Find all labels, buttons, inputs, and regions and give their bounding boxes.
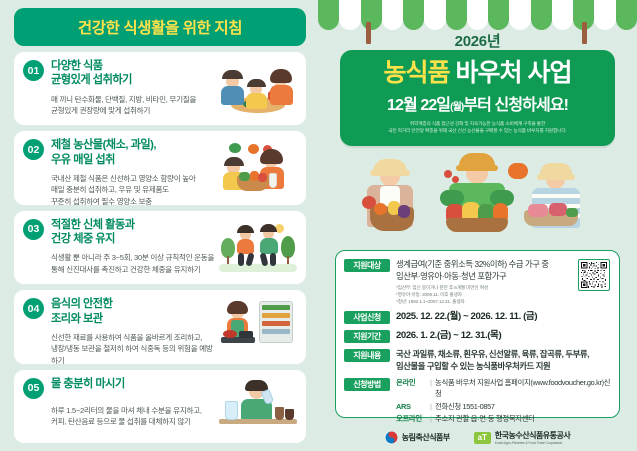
program-year: 2026년 xyxy=(318,30,637,51)
tip-title: 물 충분히 마시기 xyxy=(51,377,125,391)
ministry-logo: 농림축산식품부 xyxy=(385,431,450,444)
apply-channel-label: 오프라인 xyxy=(396,413,430,424)
info-label-apply-period: 사업신청 xyxy=(344,311,390,324)
info-value-support-content: 국산 과일류, 채소류, 흰우유, 신선알류, 육류, 잡곡류, 두부류, 임산… xyxy=(396,348,611,372)
program-title-board: 농식품 바우처 사업 12월 22일(월)부터 신청하세요! 취약계층의 식품 … xyxy=(340,50,615,146)
ministry-name: 농림축산식품부 xyxy=(402,432,450,443)
tip-card: 05 물 충분히 마시기 하루 1.5~2리터의 물을 마셔 체내 수분을 유지… xyxy=(14,370,306,443)
footer-logos: 농림축산식품부 aT 한국농수산식품유통공사 Korea Agro-Fisher… xyxy=(318,430,637,445)
subtitle-tail: 부터 신청하세요! xyxy=(463,97,568,114)
tip-title: 제철 농산물(채소, 과일), 우유 매일 섭취 xyxy=(51,138,156,167)
tip-card: 04 음식의 안전한 조리와 보관 신선한 재료를 사용하여 식품을 올바르게 … xyxy=(14,290,306,363)
tip-title: 적절한 신체 활동과 건강 체중 유지 xyxy=(51,218,135,247)
tip-body: 매 끼니 탄수화물, 단백질, 지방, 비타민, 무기질을 균형있게 권장량에 … xyxy=(51,94,219,117)
apply-channel-text: 주소지 관할 읍·면·동 행정복지센터 xyxy=(435,413,611,424)
tip-card: 01 다양한 식품 균형있게 섭취하기 매 끼니 탄수화물, 단백질, 지방, … xyxy=(14,52,306,125)
subtitle-paren: (월) xyxy=(450,102,463,113)
at-corporation-logo: aT 한국농수산식품유통공사 Korea Agro-Fisheries & Fo… xyxy=(474,430,570,445)
program-subtitle: 12월 22일(월)부터 신청하세요! xyxy=(348,91,607,115)
left-panel-header: 건강한 식생활을 위한 지침 xyxy=(14,8,306,46)
apply-method-offline[interactable]: 오프라인 | 주소지 관할 읍·면·동 행정복지센터 xyxy=(396,413,611,424)
qr-code-icon xyxy=(581,262,607,288)
apply-method-online[interactable]: 온라인 | 농식품 바우처 지원사업 홈페이지(www.foodvoucher.… xyxy=(396,377,611,399)
info-value-support-period: 2026. 1. 2.(금) ~ 12. 31.(목) xyxy=(396,329,611,343)
family-dining-table-illustration xyxy=(219,61,297,117)
info-row-apply-period: 사업신청 2025. 12. 22.(월) ~ 2026. 12. 11. (금… xyxy=(344,310,611,324)
program-info-card: 지원대상 생계급여(기준 중위소득 32%이하) 수급 가구 중 임산부·영유아… xyxy=(335,250,620,418)
cooking-refrigerator-illustration xyxy=(219,299,297,355)
tip-number: 04 xyxy=(23,298,44,319)
at-name-block: 한국농수산식품유통공사 Korea Agro-Fisheries & Food … xyxy=(495,430,570,445)
apply-channel-text: 전화신청 1551-0857 xyxy=(435,401,611,412)
vegetable-basket-illustration xyxy=(219,141,297,197)
info-value-apply-period: 2025. 12. 22.(월) ~ 2026. 12. 11. (금) xyxy=(396,310,611,324)
apply-channel-label: 온라인 xyxy=(396,377,430,388)
produce-people-illustration xyxy=(318,148,637,248)
subtitle-lead: 12월 22일 xyxy=(387,97,450,114)
info-row-support-content: 지원내용 국산 과일류, 채소류, 흰우유, 신선알류, 육류, 잡곡류, 두부… xyxy=(344,348,611,372)
drinking-water-illustration xyxy=(219,379,297,435)
left-header-title: 건강한 식생활을 위한 지침 xyxy=(78,16,242,38)
tip-body: 국내산 제철 식품은 신선하고 영양소 함량이 높아 매일 충분히 섭취하고, … xyxy=(51,173,219,207)
tip-body: 신선한 재료를 사용하여 식품을 올바르게 조리하고, 냉장/냉동 보관을 철저… xyxy=(51,332,219,366)
program-title-rest: 바우처 사업 xyxy=(450,59,572,87)
tip-card: 02 제철 농산물(채소, 과일), 우유 매일 섭취 국내산 제철 식품은 신… xyxy=(14,131,306,204)
apply-channel-text: 농식품 바우처 지원사업 홈페이지(www.foodvoucher.go.kr)… xyxy=(435,377,611,399)
info-row-apply-method: 신청방법 온라인 | 농식품 바우처 지원사업 홈페이지(www.foodvou… xyxy=(344,377,611,424)
info-label-support-content: 지원내용 xyxy=(344,349,390,362)
taegeuk-svg xyxy=(385,431,398,444)
info-label-support-period: 지원기간 xyxy=(344,330,390,343)
program-title: 농식품 바우처 사업 xyxy=(348,59,607,88)
tip-card: 03 적절한 신체 활동과 건강 체중 유지 식생활 뿐 아니라 주 3~5회,… xyxy=(14,211,306,284)
taegeuk-icon xyxy=(385,431,398,444)
info-label-apply-method: 신청방법 xyxy=(344,378,390,391)
voucher-program-panel: 2026년 농식품 바우처 사업 12월 22일(월)부터 신청하세요! 취약계… xyxy=(318,0,637,451)
program-title-highlight: 농식품 xyxy=(384,59,450,87)
tip-number: 03 xyxy=(23,219,44,240)
info-row-target: 지원대상 생계급여(기준 중위소득 32%이하) 수급 가구 중 임산부·영유아… xyxy=(344,258,611,305)
tip-number: 01 xyxy=(23,60,44,81)
tip-title: 음식의 안전한 조리와 보관 xyxy=(51,297,112,326)
qr-code[interactable] xyxy=(578,259,610,291)
at-sub-name: Korea Agro-Fisheries & Food Trade Corpor… xyxy=(495,441,570,445)
tip-body: 식생활 뿐 아니라 주 3~5회, 30분 이상 규칙적인 운동을 통해 신진대… xyxy=(51,252,219,275)
tip-number: 02 xyxy=(23,139,44,160)
tip-body: 하루 1.5~2리터의 물을 마셔 체내 수분을 유지하고, 커피, 탄산음료 … xyxy=(51,405,219,428)
jogging-illustration xyxy=(219,220,297,276)
apply-channel-label: ARS xyxy=(396,402,430,411)
at-name: 한국농수산식품유통공사 xyxy=(495,431,570,440)
program-fine-print: 취약계층의 식품 접근성 강화 및 지속가능한 농식품 소비체계 구축을 통한 … xyxy=(348,120,607,135)
info-label-target: 지원대상 xyxy=(344,259,390,272)
apply-method-ars[interactable]: ARS | 전화신청 1551-0857 xyxy=(396,401,611,412)
info-row-support-period: 지원기간 2026. 1. 2.(금) ~ 12. 31.(목) xyxy=(344,329,611,343)
tip-number: 05 xyxy=(23,378,44,399)
healthy-diet-guidelines-panel: 건강한 식생활을 위한 지침 01 다양한 식품 균형있게 섭취하기 매 끼니 … xyxy=(0,0,318,451)
at-mark: aT xyxy=(474,432,491,444)
tip-title: 다양한 식품 균형있게 섭취하기 xyxy=(51,59,132,88)
poster-root: 건강한 식생활을 위한 지침 01 다양한 식품 균형있게 섭취하기 매 끼니 … xyxy=(0,0,637,451)
